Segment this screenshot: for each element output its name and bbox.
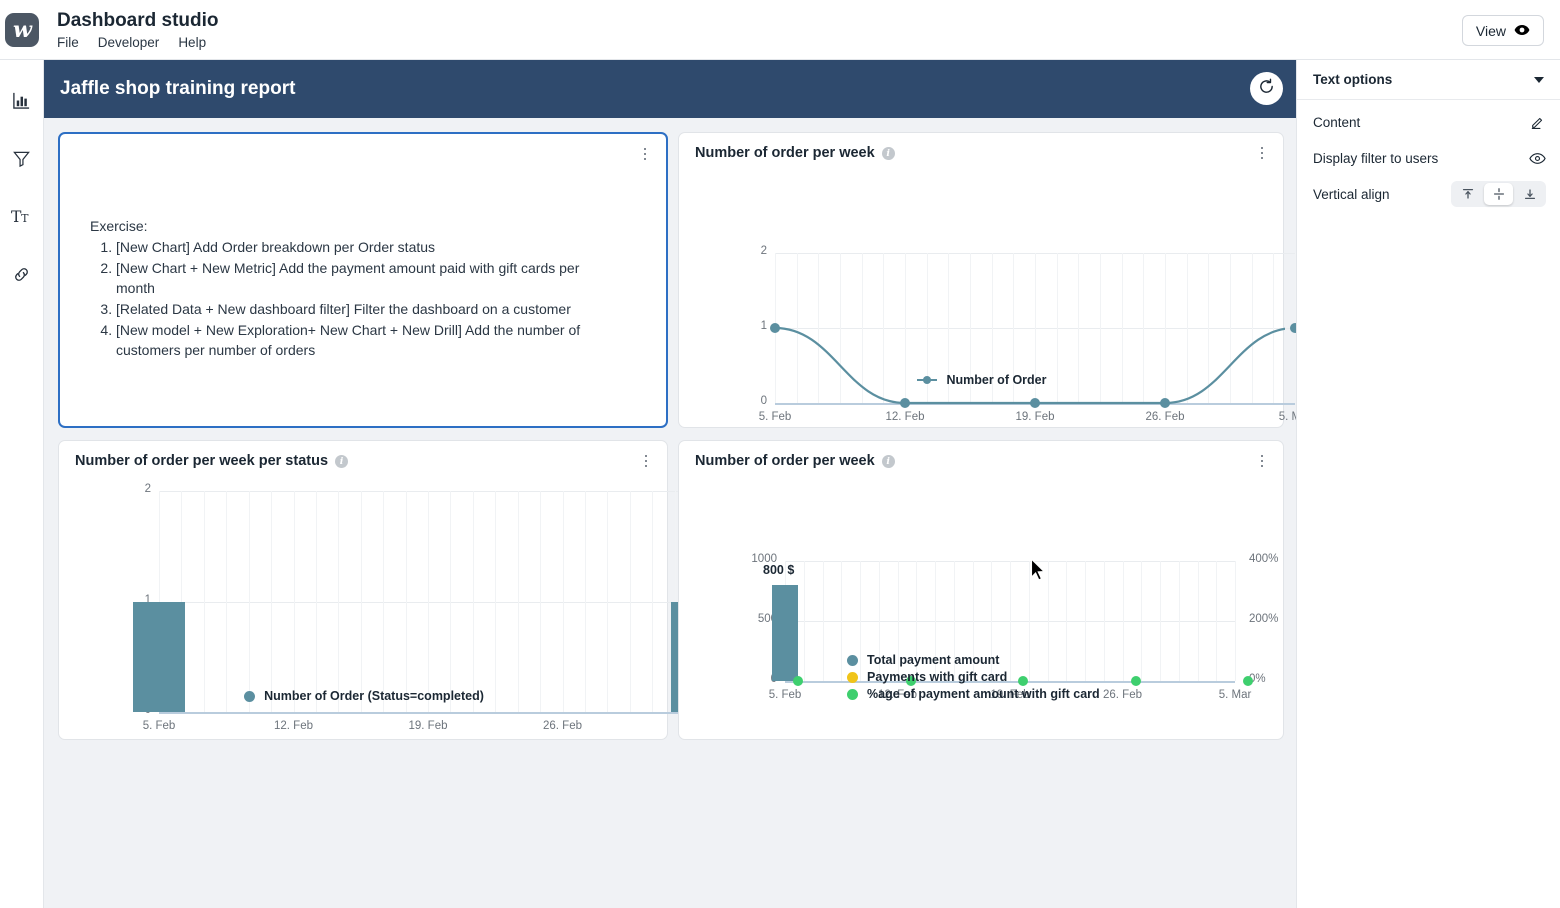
- sidebar-item-text[interactable]: T T: [7, 204, 37, 234]
- vgridline: [473, 491, 474, 712]
- vgridline: [518, 491, 519, 712]
- line-chart-legend: Number of Order: [679, 373, 1285, 387]
- text-card-header: [60, 134, 666, 174]
- report-banner: Jaffle shop training report: [44, 60, 1296, 118]
- axis-baseline: [159, 712, 697, 714]
- list-item: [New Chart + New Metric] Add the payment…: [116, 258, 620, 298]
- text-options-header[interactable]: Text options: [1297, 60, 1560, 100]
- bar-chart-card[interactable]: Number of order per week per status i 01…: [58, 440, 668, 740]
- report-title: Jaffle shop training report: [60, 78, 295, 100]
- vgridline: [204, 491, 205, 712]
- vgridline: [563, 491, 564, 712]
- link-icon: [12, 265, 31, 289]
- vgridline: [1104, 561, 1105, 681]
- vgridline: [428, 491, 429, 712]
- menu-bar: File Developer Help: [57, 35, 219, 50]
- text-icon: T T: [11, 207, 33, 231]
- legend-swatch: [244, 691, 255, 702]
- vgridline: [1160, 561, 1161, 681]
- x-tick-label: 26. Feb: [523, 720, 603, 732]
- vgridline: [495, 491, 496, 712]
- pencil-icon[interactable]: [1530, 114, 1546, 130]
- legend-item: Number of Order (Status=completed): [244, 689, 484, 703]
- exercise-list: [New Chart] Add Order breakdown per Orde…: [116, 237, 620, 360]
- page-title: Dashboard studio: [57, 10, 219, 32]
- sidebar-item-links[interactable]: [7, 262, 37, 292]
- legend-swatch: [847, 672, 858, 683]
- vgridline: [1235, 561, 1236, 681]
- y2-tick-label: 200%: [1249, 613, 1278, 625]
- y-tick-label: 2: [113, 483, 151, 495]
- display-filter-label: Display filter to users: [1313, 151, 1438, 166]
- legend-item: Payments with gift card: [847, 670, 1100, 684]
- bar-chart-legend: Number of Order (Status=completed): [59, 689, 669, 703]
- view-button-label: View: [1476, 23, 1506, 39]
- vgridline: [652, 491, 653, 712]
- sidebar-item-charts[interactable]: [7, 88, 37, 118]
- data-point: [793, 676, 803, 686]
- legend-label: Total payment amount: [867, 653, 999, 667]
- legend-item: Total payment amount: [847, 653, 1100, 667]
- svg-text:T: T: [21, 212, 29, 225]
- legend-label: Payments with gift card: [867, 670, 1007, 684]
- text-widget-card[interactable]: Exercise: [New Chart] Add Order breakdow…: [58, 132, 668, 428]
- app-title-block: Dashboard studio File Developer Help: [57, 10, 219, 50]
- vgridline: [804, 561, 805, 681]
- vgridline: [1179, 561, 1180, 681]
- panel-row-display-filter[interactable]: Display filter to users: [1297, 140, 1560, 176]
- eye-icon: [1514, 23, 1530, 39]
- data-point: [770, 323, 780, 333]
- legend-label: %age of payment amount with gift card: [867, 687, 1100, 701]
- vertical-align-label: Vertical align: [1313, 187, 1390, 202]
- list-item: [Related Data + New dashboard filter] Fi…: [116, 299, 620, 319]
- panel-row-content[interactable]: Content: [1297, 104, 1560, 140]
- vgridline: [316, 491, 317, 712]
- dashboard-canvas: Jaffle shop training report Exercise: [N…: [44, 60, 1296, 908]
- filter-icon: [12, 149, 31, 173]
- left-rail: T T: [0, 60, 44, 908]
- chevron-down-icon[interactable]: [1534, 77, 1544, 83]
- top-bar: w Dashboard studio File Developer Help V…: [0, 0, 1560, 60]
- list-item: [New model + New Exploration+ New Chart …: [116, 320, 620, 360]
- app-logo: w: [5, 13, 39, 47]
- legend-label: Number of Order (Status=completed): [264, 689, 484, 703]
- vgridline: [1198, 561, 1199, 681]
- vgridline: [226, 491, 227, 712]
- eye-icon[interactable]: [1529, 152, 1546, 165]
- exercise-content: Exercise: [New Chart] Add Order breakdow…: [90, 216, 620, 360]
- list-item: [New Chart] Add Order breakdown per Orde…: [116, 237, 620, 257]
- vgridline: [630, 491, 631, 712]
- data-point: [1243, 676, 1253, 686]
- legend-swatch: [847, 689, 858, 700]
- combo-chart-legend: Total payment amountPayments with gift c…: [847, 653, 1100, 701]
- legend-line-marker: [917, 375, 937, 386]
- vgridline: [450, 491, 451, 712]
- content-label: Content: [1313, 115, 1360, 130]
- vgridline: [1141, 561, 1142, 681]
- legend-swatch: [847, 655, 858, 666]
- x-tick-label: 5. Feb: [745, 689, 825, 701]
- vgridline: [361, 491, 362, 712]
- vgridline: [294, 491, 295, 712]
- sidebar-item-filters[interactable]: [7, 146, 37, 176]
- x-tick-label: 12. Feb: [254, 720, 334, 732]
- text-card-menu-button[interactable]: [636, 143, 654, 165]
- align-middle-icon[interactable]: [1484, 183, 1513, 205]
- data-point: [1131, 676, 1141, 686]
- refresh-icon: [1258, 78, 1275, 100]
- line-chart-card[interactable]: Number of order per week i 0125. Feb12. …: [678, 132, 1284, 428]
- dashboard-studio-app: w Dashboard studio File Developer Help V…: [0, 0, 1560, 908]
- vgridline: [406, 491, 407, 712]
- y2-tick-label: 400%: [1249, 553, 1278, 565]
- align-top-icon[interactable]: [1453, 183, 1482, 205]
- menu-item-file[interactable]: File: [57, 35, 79, 50]
- combo-chart-card[interactable]: Number of order per week i 050010005. Fe…: [678, 440, 1284, 740]
- vgridline: [249, 491, 250, 712]
- x-tick-label: 5. Mar: [1195, 689, 1275, 701]
- menu-item-help[interactable]: Help: [178, 35, 206, 50]
- text-options-title: Text options: [1313, 72, 1392, 87]
- data-point: [1030, 398, 1040, 408]
- vgridline: [585, 491, 586, 712]
- vgridline: [383, 491, 384, 712]
- vgridline: [271, 491, 272, 712]
- vgridline: [841, 561, 842, 681]
- panel-row-vertical-align: Vertical align: [1297, 176, 1560, 212]
- bar: [772, 585, 798, 681]
- bar-value-label: 800 $: [763, 563, 794, 577]
- x-tick-label: 5. Feb: [119, 720, 199, 732]
- vgridline: [1123, 561, 1124, 681]
- vertical-align-group: [1451, 181, 1546, 207]
- vgridline: [1216, 561, 1217, 681]
- vgridline: [540, 491, 541, 712]
- legend-label: Number of Order: [946, 373, 1046, 387]
- vgridline: [338, 491, 339, 712]
- align-bottom-icon[interactable]: [1515, 183, 1544, 205]
- refresh-button[interactable]: [1250, 72, 1283, 105]
- legend-item: %age of payment amount with gift card: [847, 687, 1100, 701]
- vgridline: [823, 561, 824, 681]
- menu-item-developer[interactable]: Developer: [98, 35, 160, 50]
- exercise-heading: Exercise:: [90, 216, 620, 236]
- legend-item: Number of Order: [917, 373, 1046, 387]
- view-button[interactable]: View: [1462, 15, 1544, 46]
- vgridline: [607, 491, 608, 712]
- x-tick-label: 19. Feb: [388, 720, 468, 732]
- data-point: [900, 398, 910, 408]
- options-panel: Text options Content Display filter to u…: [1296, 60, 1560, 908]
- chart-icon: [12, 91, 31, 115]
- data-point: [1160, 398, 1170, 408]
